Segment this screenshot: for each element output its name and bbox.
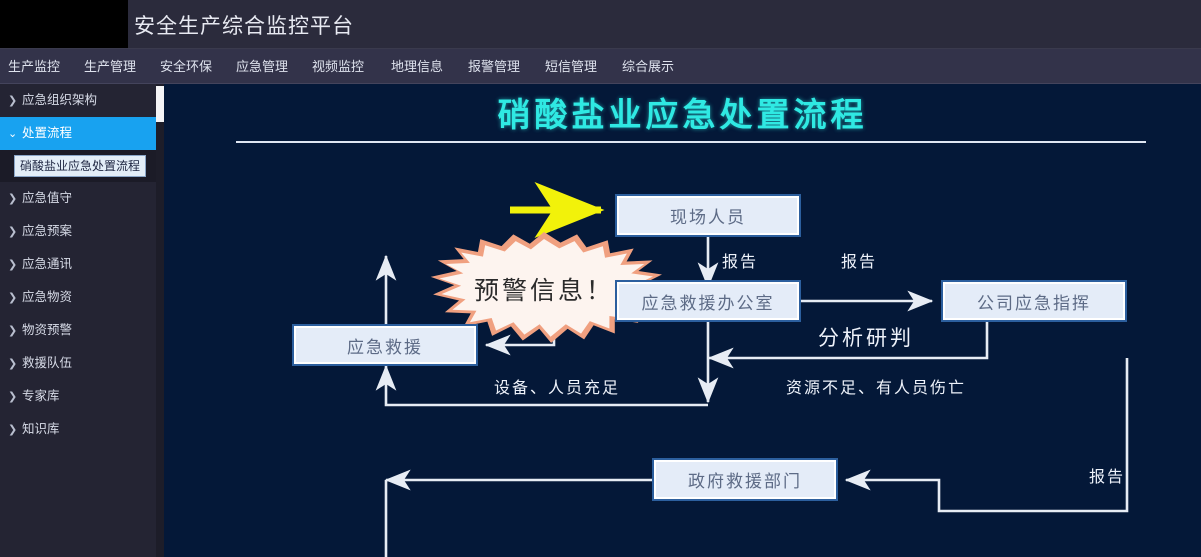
diagram-panel: 硝酸盐业应急处置流程 [164,84,1201,557]
sidebar-item-label: 应急组织架构 [22,93,97,107]
node-company-command[interactable]: 公司应急指挥 [941,280,1127,322]
chevron-right-icon: ❯ [8,315,22,348]
node-rescue-office[interactable]: 应急救援办公室 [615,280,801,322]
sidebar-item-0[interactable]: ❯应急组织架构 [0,84,156,117]
sidebar-item-8[interactable]: ❯专家库 [0,380,156,413]
sidebar-item-2[interactable]: ❯应急值守 [0,182,156,215]
sidebar-item-3[interactable]: ❯应急预案 [0,215,156,248]
node-gov-rescue-dept[interactable]: 政府救援部门 [652,458,838,501]
chevron-down-icon: ⌄ [8,118,22,151]
sidebar-subitem-selected[interactable]: 硝酸盐业应急处置流程 [14,155,146,177]
nav-item-8[interactable]: 综合展示 [622,49,674,84]
chevron-right-icon: ❯ [8,183,22,216]
sidebar-item-7[interactable]: ❯救援队伍 [0,347,156,380]
page-title: 安全生产综合监控平台 [134,10,354,40]
chevron-right-icon: ❯ [8,414,22,447]
node-emergency-rescue[interactable]: 应急救援 [292,324,478,366]
nav-item-6[interactable]: 报警管理 [468,49,520,84]
sidebar-item-label: 知识库 [22,422,60,436]
sidebar-item-label: 物资预警 [22,323,72,337]
sidebar-item-6[interactable]: ❯物资预警 [0,314,156,347]
node-site-staff[interactable]: 现场人员 [615,194,801,237]
chevron-right-icon: ❯ [8,216,22,249]
edge-label-report-3: 报告 [1089,463,1125,487]
sidebar-item-label: 应急预案 [22,224,72,238]
main-navigation: 生产监控生产管理安全环保应急管理视频监控地理信息报警管理短信管理综合展示 [0,49,1201,84]
sidebar-item-9[interactable]: ❯知识库 [0,413,156,446]
sidebar-item-1[interactable]: ⌄处置流程 [0,117,156,150]
chevron-right-icon: ❯ [8,85,22,118]
edge-label-analysis: 分析研判 [818,322,914,352]
sidebar-item-label: 专家库 [22,389,60,403]
chevron-right-icon: ❯ [8,381,22,414]
app-header: 安全生产综合监控平台 [0,0,1201,49]
sidebar-scrollbar-thumb[interactable] [156,86,164,122]
sidebar-item-label: 处置流程 [22,126,72,140]
application-window: 安全生产综合监控平台 生产监控生产管理安全环保应急管理视频监控地理信息报警管理短… [0,0,1201,557]
nav-item-5[interactable]: 地理信息 [391,49,443,84]
nav-item-0[interactable]: 生产监控 [8,49,60,84]
sidebar-item-label: 应急物资 [22,290,72,304]
sidebar: ❯应急组织架构⌄处置流程硝酸盐业应急处置流程❯应急值守❯应急预案❯应急通讯❯应急… [0,84,156,557]
edge-label-report-1: 报告 [722,248,758,272]
sidebar-item-label: 救援队伍 [22,356,72,370]
sidebar-scrollbar-track[interactable] [156,84,164,557]
chevron-right-icon: ❯ [8,282,22,315]
sidebar-item-4[interactable]: ❯应急通讯 [0,248,156,281]
nav-item-3[interactable]: 应急管理 [236,49,288,84]
nav-item-2[interactable]: 安全环保 [160,49,212,84]
logo-block[interactable] [0,0,128,48]
sidebar-item-label: 应急值守 [22,191,72,205]
sidebar-item-5[interactable]: ❯应急物资 [0,281,156,314]
nav-item-1[interactable]: 生产管理 [84,49,136,84]
sidebar-subitem-container: 硝酸盐业应急处置流程 [0,150,156,182]
edge-label-report-2: 报告 [841,248,877,272]
edge-label-resources-ok: 设备、人员充足 [494,374,620,398]
edge-label-resources-short: 资源不足、有人员伤亡 [786,374,966,398]
sidebar-item-label: 应急通讯 [22,257,72,271]
chevron-right-icon: ❯ [8,348,22,381]
chevron-right-icon: ❯ [8,249,22,282]
nav-item-4[interactable]: 视频监控 [312,49,364,84]
nav-item-7[interactable]: 短信管理 [545,49,597,84]
